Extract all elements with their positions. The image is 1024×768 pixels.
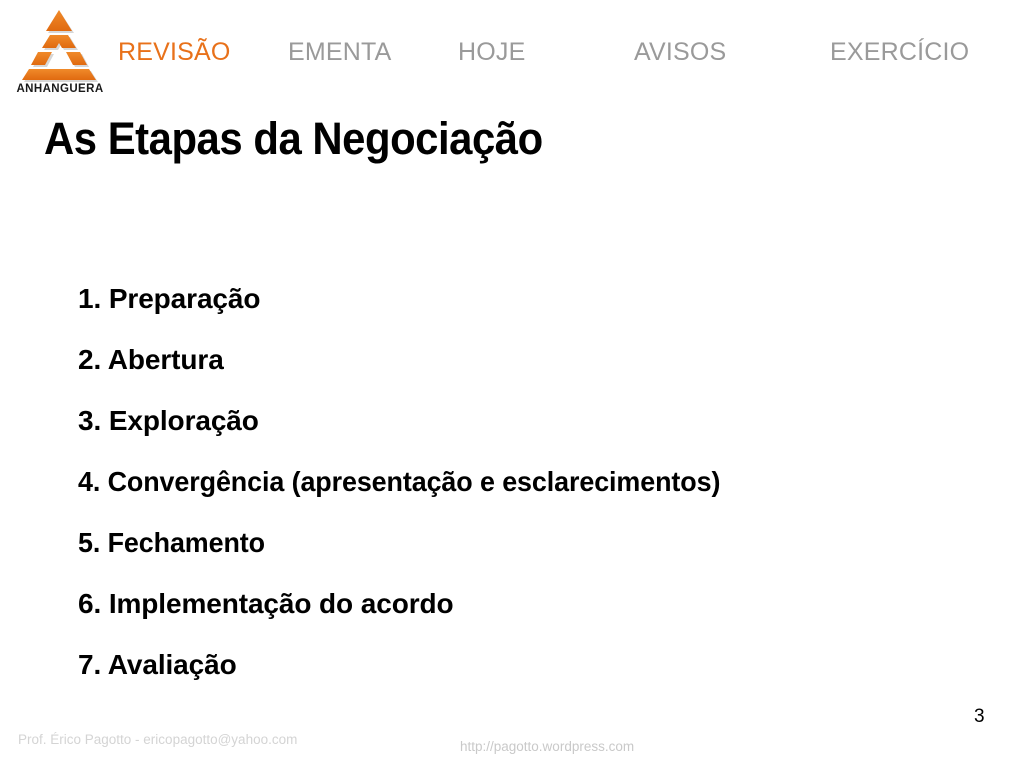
brand-logo: ANHANGUERA <box>14 4 106 102</box>
nav-item-hoje[interactable]: HOJE <box>458 36 525 68</box>
anhanguera-triangle-logo-icon <box>14 4 106 82</box>
list-item: 3. Exploração <box>78 390 978 451</box>
slide-canvas: ANHANGUERA REVISÃO EMENTA HOJE AVISOS EX… <box>0 0 1024 768</box>
list-item: 1. Preparação <box>78 268 978 329</box>
steps-list: 1. Preparação 2. Abertura 3. Exploração … <box>78 268 978 695</box>
page-title: As Etapas da Negociação <box>44 110 543 168</box>
list-item: 7. Avaliação <box>78 634 978 695</box>
nav-item-ementa[interactable]: EMENTA <box>288 36 392 68</box>
list-item: 4. Convergência (apresentação e esclarec… <box>78 451 942 512</box>
list-item: 5. Fechamento <box>78 512 942 573</box>
nav-item-exercicio[interactable]: EXERCÍCIO <box>830 36 969 68</box>
footer-author-text: Prof. Érico Pagotto - ericopagotto@yahoo… <box>18 731 297 749</box>
nav-item-revisao[interactable]: REVISÃO <box>118 36 231 68</box>
slide-header: ANHANGUERA REVISÃO EMENTA HOJE AVISOS EX… <box>0 0 1024 104</box>
list-item: 6. Implementação do acordo <box>78 573 978 634</box>
top-nav: REVISÃO EMENTA HOJE AVISOS EXERCÍCIO <box>118 36 1018 78</box>
brand-wordmark: ANHANGUERA <box>14 82 106 96</box>
nav-item-avisos[interactable]: AVISOS <box>634 36 726 68</box>
page-number: 3 <box>974 705 985 729</box>
list-item: 2. Abertura <box>78 329 978 390</box>
footer-url-text: http://pagotto.wordpress.com <box>460 738 634 756</box>
